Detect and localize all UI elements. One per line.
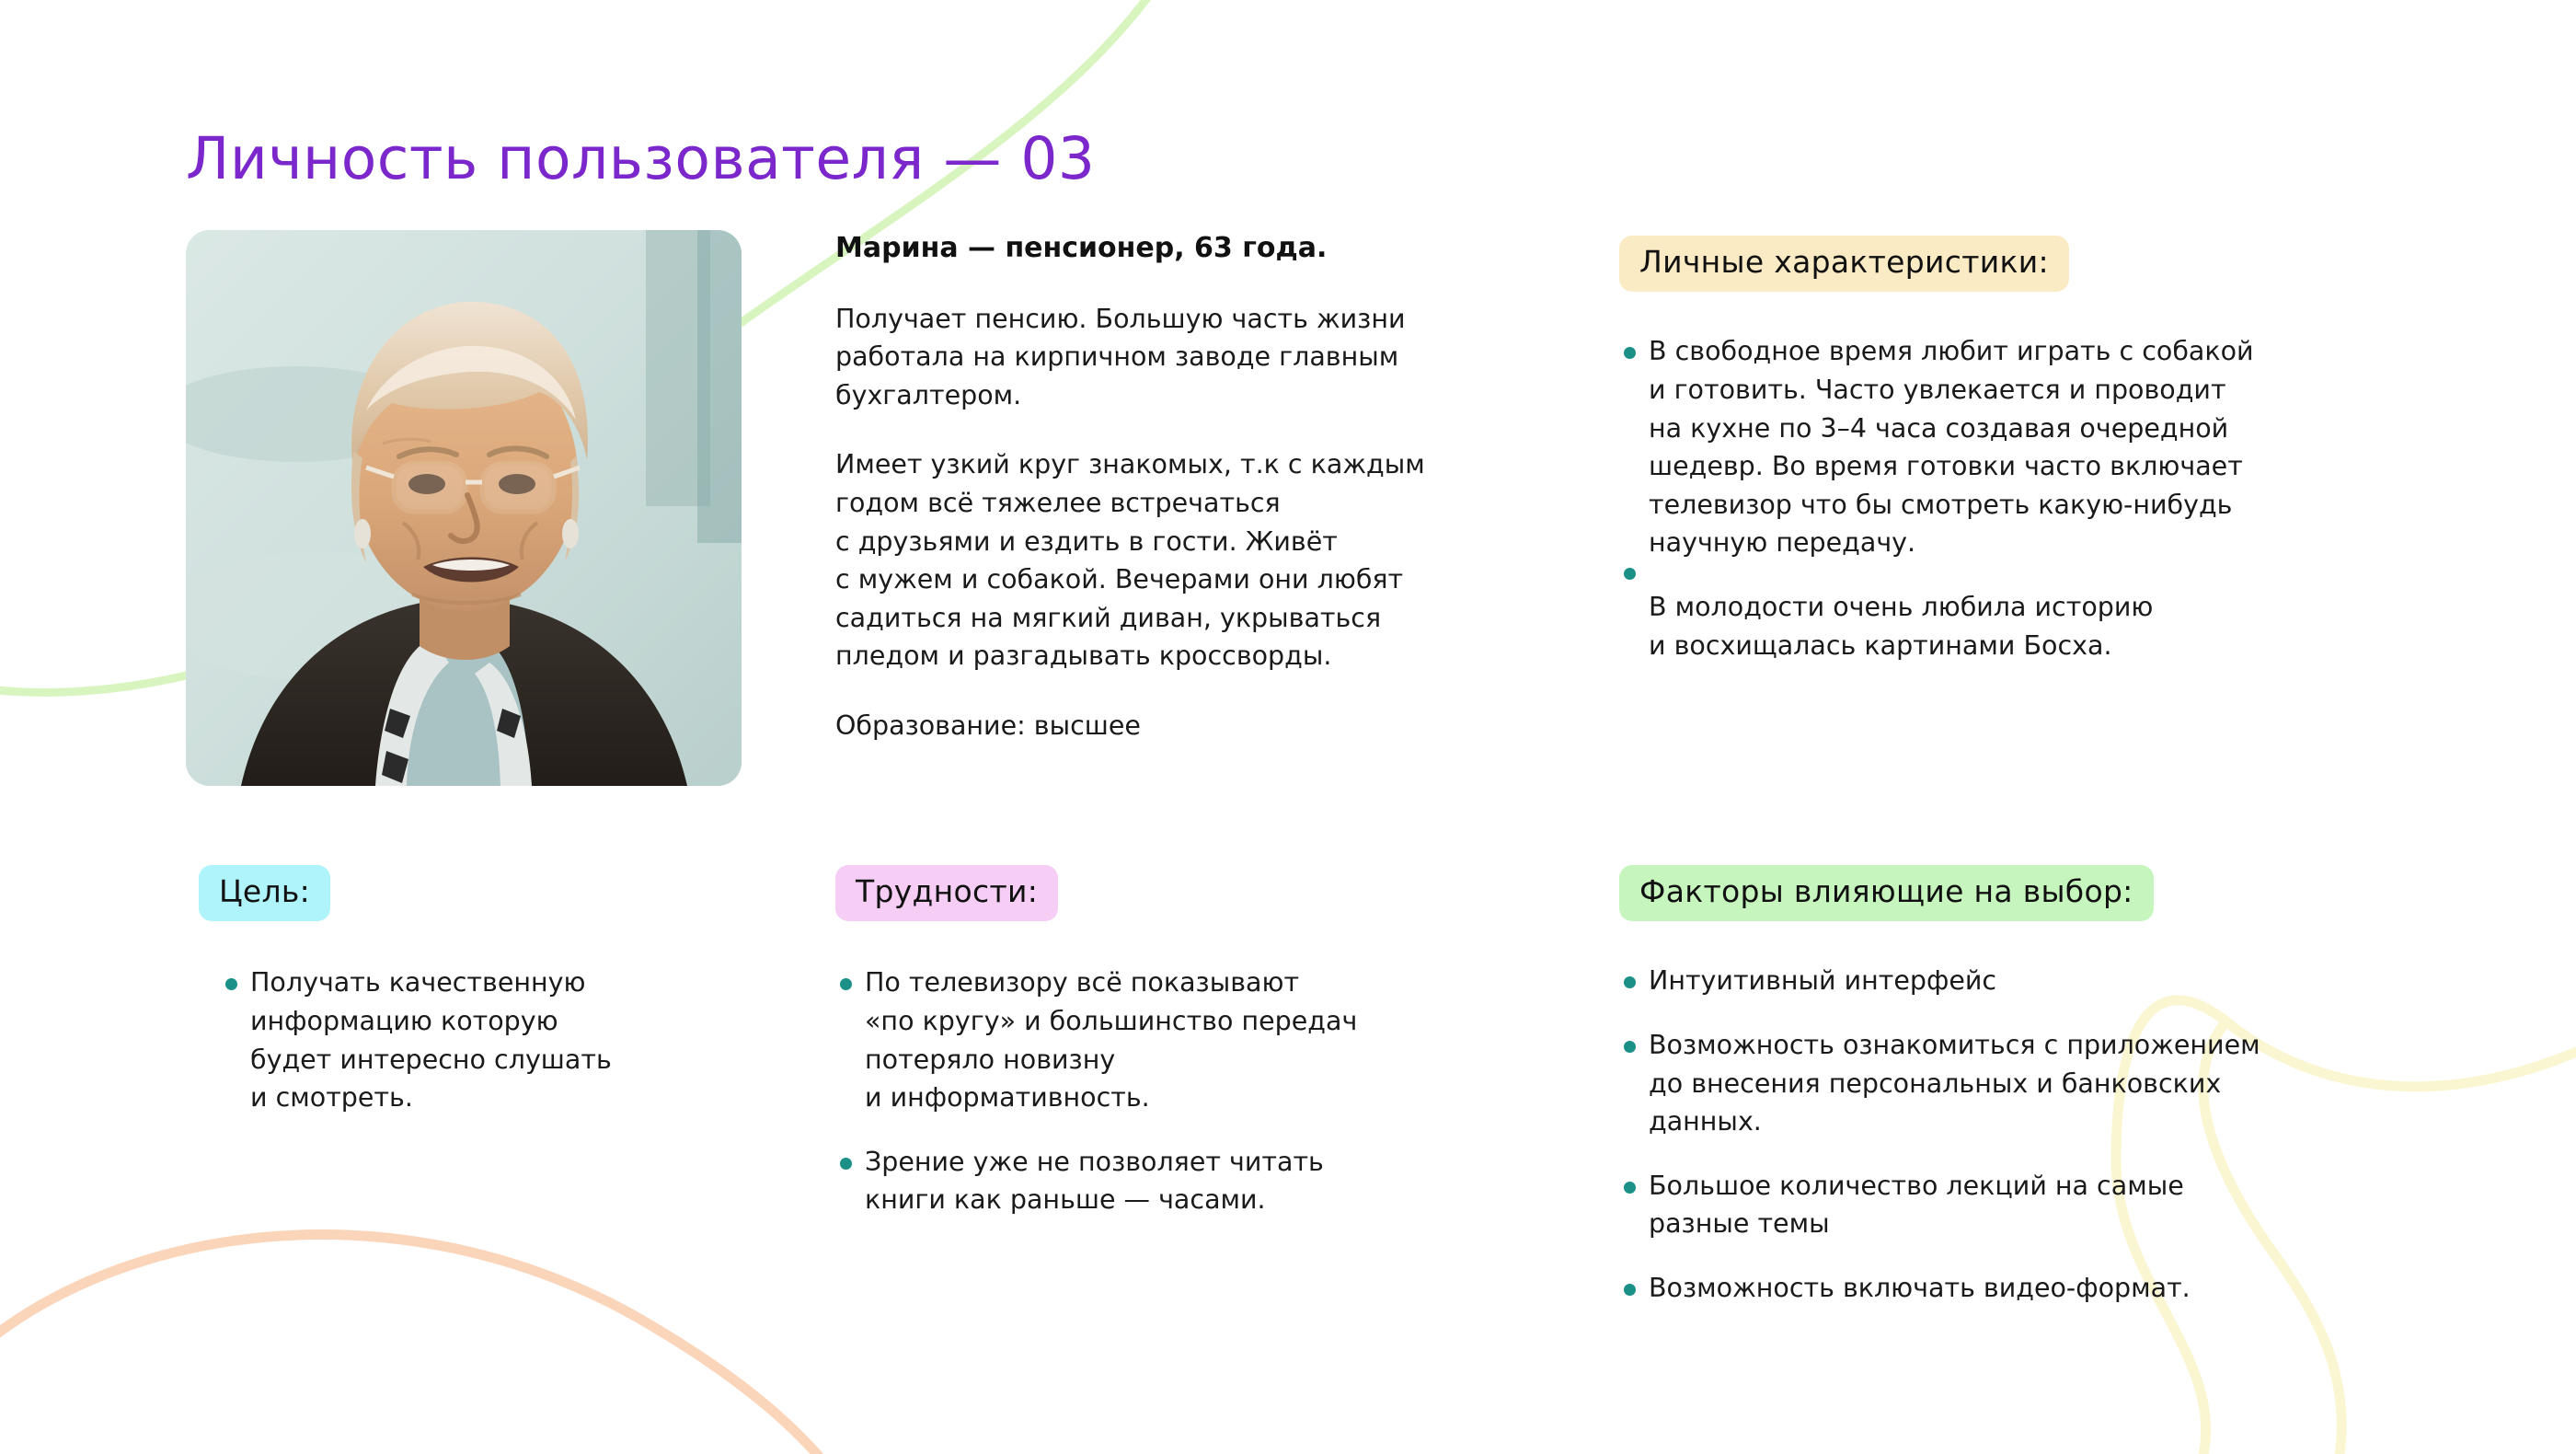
list-item: В свободное время любит играть с собакой… [1619, 332, 2346, 562]
section-factors: Факторы влияющие на выбор: Интуитивный и… [1619, 865, 2355, 1308]
goal-list: Получать качественную информацию которую… [221, 964, 677, 1116]
troubles-heading: Трудности: [835, 865, 1058, 921]
section-troubles: Трудности: По телевизору всё показывают … [835, 865, 1443, 1219]
list-item: Большое количество лекций на самые разны… [1619, 1167, 2355, 1243]
characteristics-list: В свободное время любит играть с собакой… [1619, 332, 2346, 664]
list-item: Возможность включать видео-формат. [1619, 1269, 2355, 1308]
list-item: Получать качественную информацию которую… [221, 964, 677, 1116]
section-characteristics: Личные характеристики: В свободное время… [1619, 236, 2346, 664]
persona-slide: Личность пользователя — 03 [0, 0, 2576, 1454]
list-item: Зрение уже не позволяет читать книги как… [835, 1143, 1443, 1219]
factors-list: Интуитивный интерфейс Возможность ознако… [1619, 962, 2355, 1307]
section-goal: Цель: Получать качественную информацию к… [199, 865, 677, 1117]
persona-photo-illustration [186, 230, 742, 786]
list-item: По телевизору всё показывают «по кругу» … [835, 964, 1443, 1116]
list-item: В молодости очень любила историю и восхи… [1619, 588, 2346, 664]
list-item: Интуитивный интерфейс [1619, 962, 2355, 1000]
persona-paragraph-2: Имеет узкий круг знакомых, т.к с каждым … [835, 445, 1470, 675]
troubles-list: По телевизору всё показывают «по кругу» … [835, 964, 1443, 1219]
list-item: Возможность ознакомиться с приложением д… [1619, 1026, 2355, 1141]
goal-heading: Цель: [199, 865, 330, 921]
factors-heading: Факторы влияющие на выбор: [1619, 865, 2154, 921]
persona-photo [186, 230, 742, 786]
persona-paragraph-1: Получает пенсию. Большую часть жизни раб… [835, 300, 1470, 415]
page-title: Личность пользователя — 03 [186, 125, 1096, 192]
persona-education: Образование: высшее [835, 707, 1470, 745]
characteristics-heading: Личные характеристики: [1619, 236, 2069, 292]
persona-lead: Марина — пенсионер, 63 года. [835, 230, 1470, 267]
peach-curve-bottom-left [0, 1235, 833, 1454]
persona-description: Марина — пенсионер, 63 года. Получает пе… [835, 230, 1470, 745]
